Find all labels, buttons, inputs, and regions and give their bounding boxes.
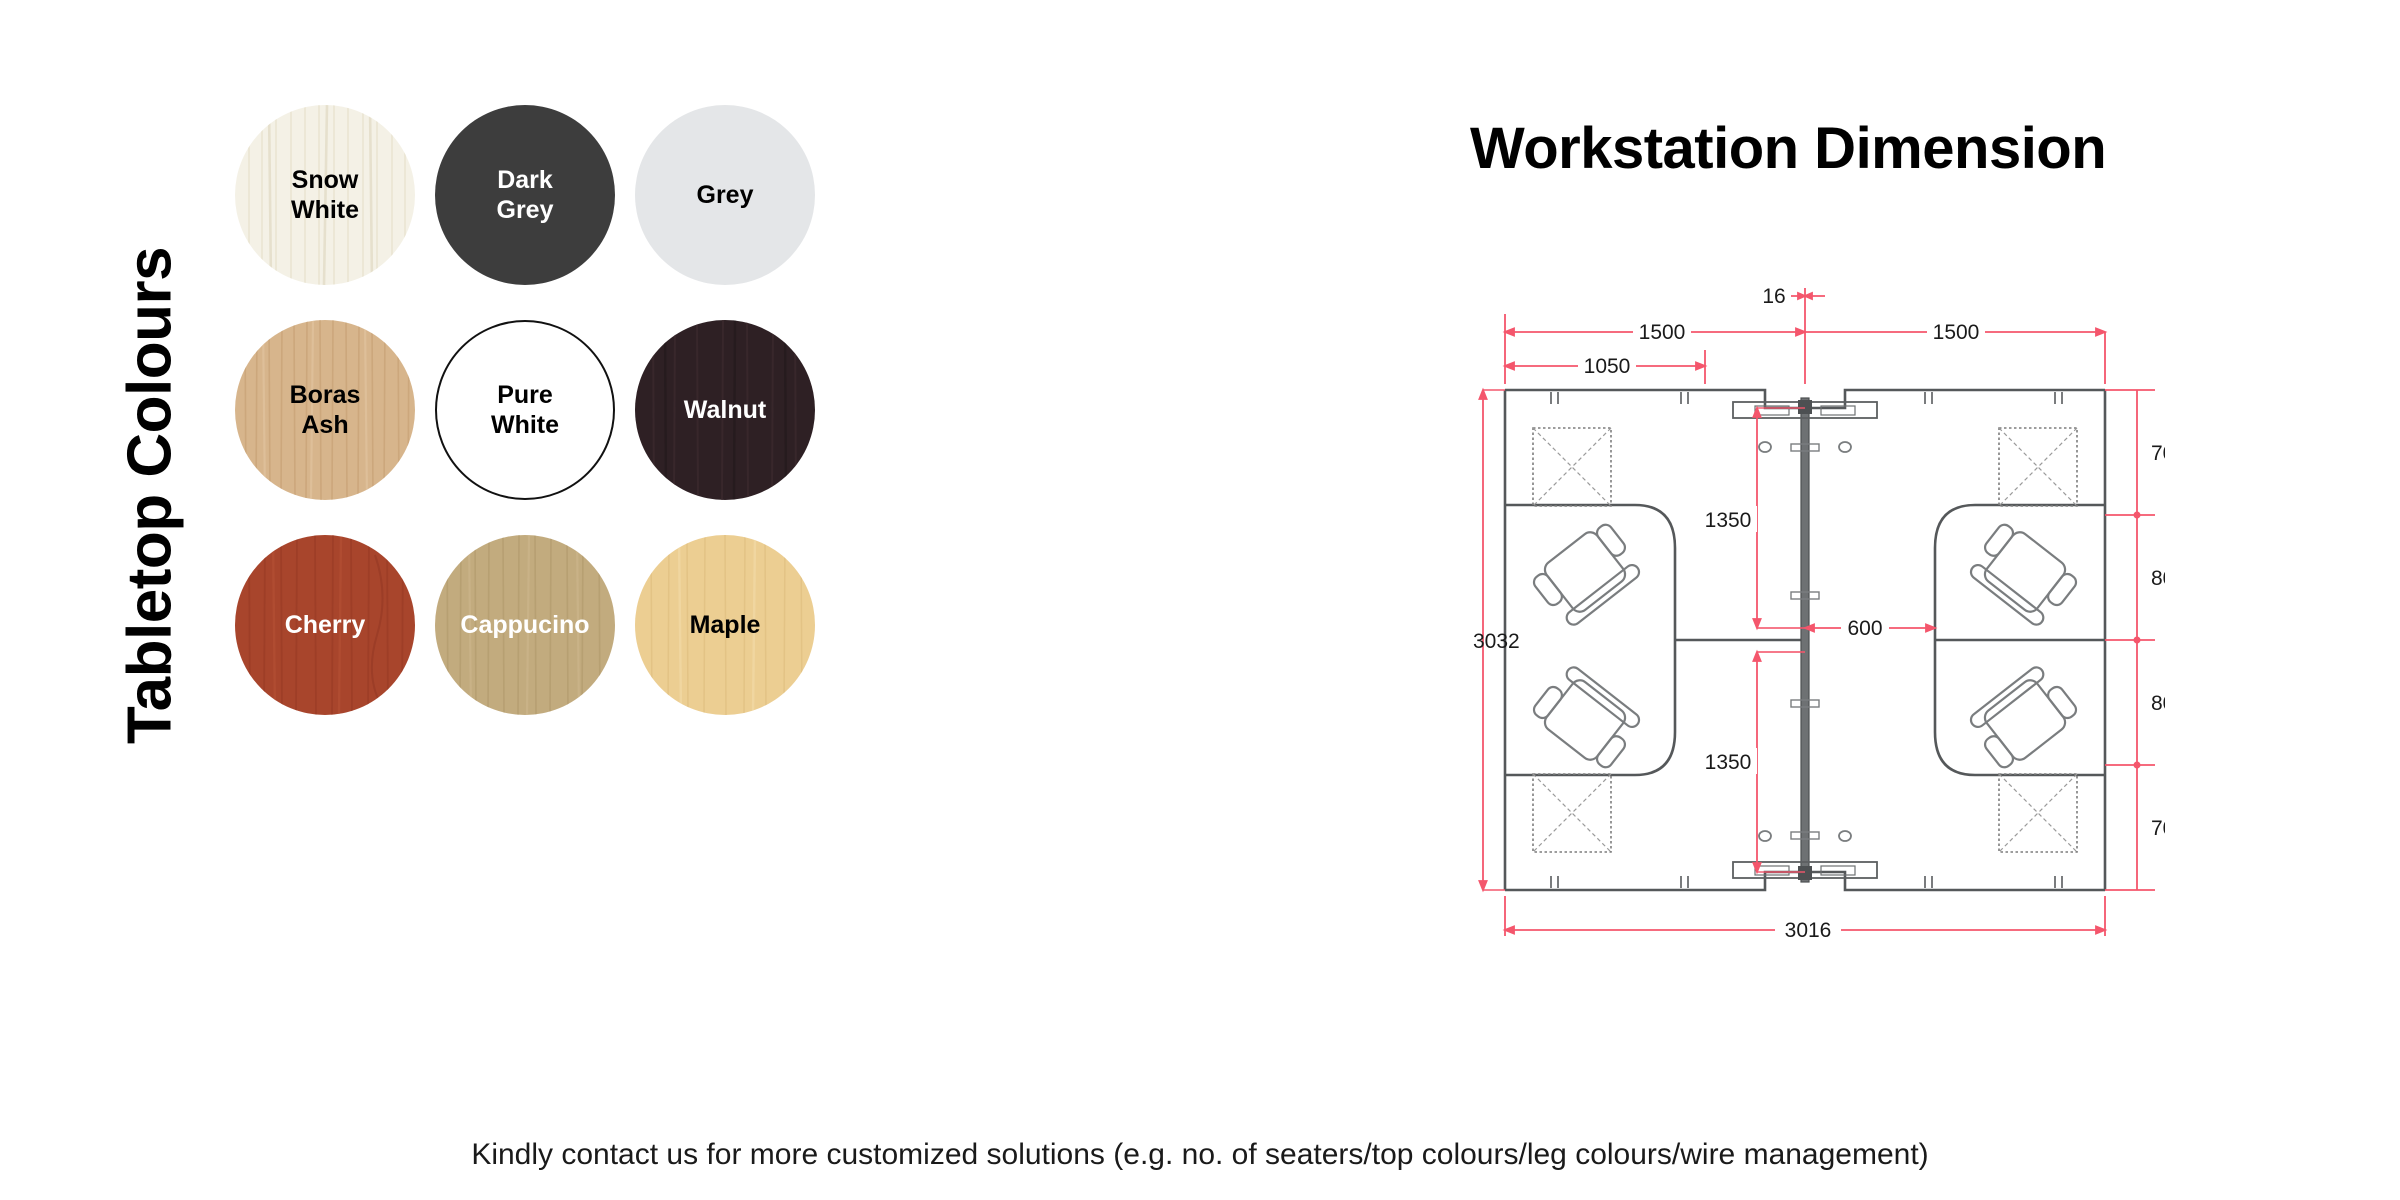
dim-right-4: 700 [2151, 817, 2165, 840]
footer-note: Kindly contact us for more customized so… [0, 1138, 2400, 1172]
swatch-cell: Grey [635, 105, 835, 320]
dimension-labels: 1500 1500 1050 16 3032 3016 1350 1350 60… [1473, 284, 2165, 942]
workstation-dimension-title: Workstation Dimension [1470, 115, 2106, 182]
swatch-label: Maple [684, 610, 767, 640]
workstation-dimension-panel: Workstation Dimension [1250, 0, 2400, 1080]
swatch-cell: Cherry [235, 535, 435, 750]
workstation-plan-drawing: 1500 1500 1050 16 3032 3016 1350 1350 60… [1465, 280, 2165, 1000]
dim-top-left: 1500 [1639, 321, 1686, 344]
colour-swatch-grid: Snow White Dark Grey Grey [235, 105, 835, 750]
colour-swatch-cherry[interactable]: Cherry [235, 535, 415, 715]
swatch-cell: Pure White [435, 320, 635, 535]
chair-top-left [1529, 519, 1645, 630]
dim-right-2: 800 [2151, 567, 2165, 590]
dim-bottom-overall: 3016 [1785, 919, 1832, 942]
swatch-label: Pure White [485, 380, 565, 440]
swatch-label: Boras Ash [284, 380, 367, 440]
chair-top-right [1965, 519, 2081, 630]
tabletop-colours-panel: Tabletop Colours [0, 0, 1250, 1080]
swatch-label: Cherry [279, 610, 372, 640]
dim-top-center: 16 [1762, 285, 1785, 308]
pedestal-top-right [1999, 428, 2077, 506]
swatch-cell: Dark Grey [435, 105, 635, 320]
chair-bottom-left [1529, 662, 1645, 773]
colour-swatch-dark-grey[interactable]: Dark Grey [435, 105, 615, 285]
colour-swatch-snow-white[interactable]: Snow White [235, 105, 415, 285]
swatch-cell: Cappucino [435, 535, 635, 750]
swatch-label: Walnut [678, 395, 772, 425]
swatch-cell: Boras Ash [235, 320, 435, 535]
swatch-label: Dark Grey [491, 165, 560, 225]
dim-center-upper: 1350 [1705, 509, 1752, 532]
swatch-cell: Walnut [635, 320, 835, 535]
dim-left-overall: 3032 [1473, 630, 1520, 653]
chair-bottom-right [1965, 662, 2081, 773]
swatch-label: Cappucino [454, 610, 595, 640]
slide-root: Tabletop Colours [0, 0, 2400, 1200]
dim-right-3: 800 [2151, 692, 2165, 715]
colour-swatch-pure-white[interactable]: Pure White [435, 320, 615, 500]
pedestal-top-left [1533, 428, 1611, 506]
pedestal-bottom-left [1533, 774, 1611, 852]
swatch-label: Snow White [285, 165, 365, 225]
dim-top-inner-left: 1050 [1584, 355, 1631, 378]
dim-center-middle: 600 [1847, 617, 1882, 640]
dim-center-lower: 1350 [1705, 751, 1752, 774]
dim-right-1: 700 [2151, 442, 2165, 465]
colour-swatch-boras-ash[interactable]: Boras Ash [235, 320, 415, 500]
colour-swatch-walnut[interactable]: Walnut [635, 320, 815, 500]
dim-top-right: 1500 [1933, 321, 1980, 344]
swatch-label: Grey [691, 180, 760, 210]
tabletop-colours-title: Tabletop Colours [115, 186, 186, 806]
colour-swatch-grey[interactable]: Grey [635, 105, 815, 285]
swatch-cell: Maple [635, 535, 835, 750]
swatch-cell: Snow White [235, 105, 435, 320]
colour-swatch-maple[interactable]: Maple [635, 535, 815, 715]
pedestal-bottom-right [1999, 774, 2077, 852]
colour-swatch-cappucino[interactable]: Cappucino [435, 535, 615, 715]
